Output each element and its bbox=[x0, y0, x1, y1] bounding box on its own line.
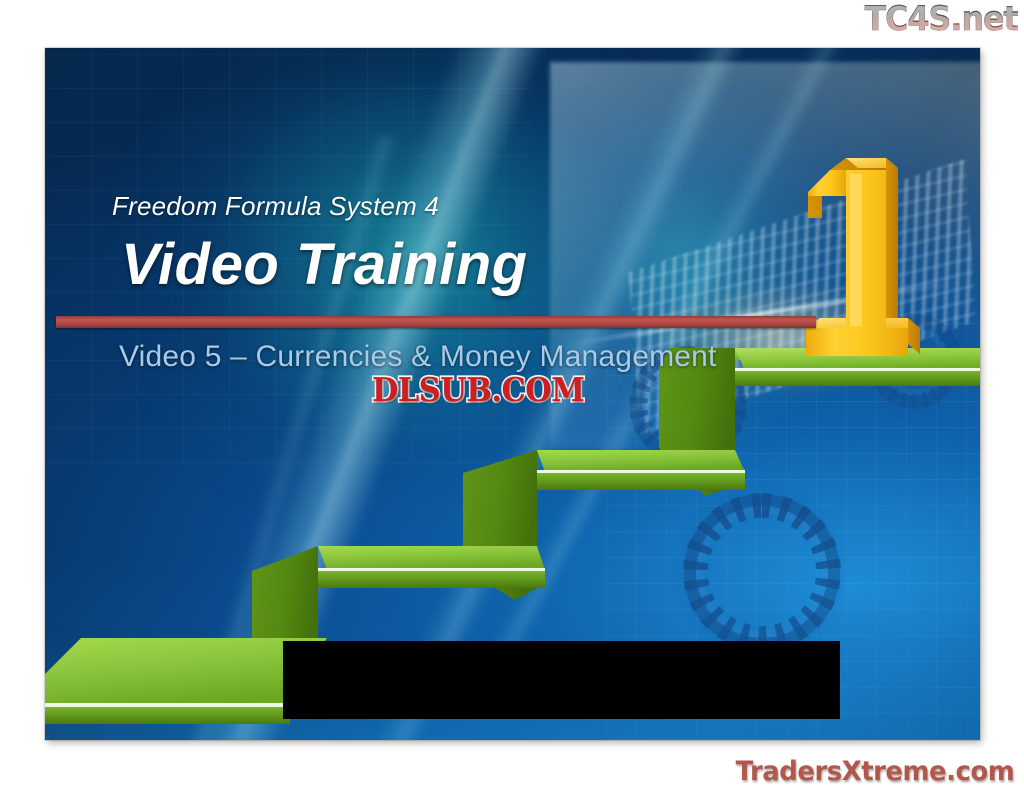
slide-title: Video Training bbox=[121, 231, 528, 298]
redaction-bar bbox=[283, 641, 840, 719]
slide-canvas: Freedom Formula System 4 Video Training … bbox=[45, 48, 980, 740]
slide-subtitle: Video 5 – Currencies & Money Management bbox=[119, 340, 717, 374]
watermark-dlsub: DLSUB.COM bbox=[372, 373, 584, 406]
watermark-tc4s: TC4S.net bbox=[865, 2, 1018, 36]
gold-number-one bbox=[790, 148, 920, 373]
title-divider bbox=[56, 316, 816, 328]
slide-kicker: Freedom Formula System 4 bbox=[112, 191, 439, 222]
watermark-tradersxtreme: TradersXtreme.com bbox=[735, 758, 1014, 785]
